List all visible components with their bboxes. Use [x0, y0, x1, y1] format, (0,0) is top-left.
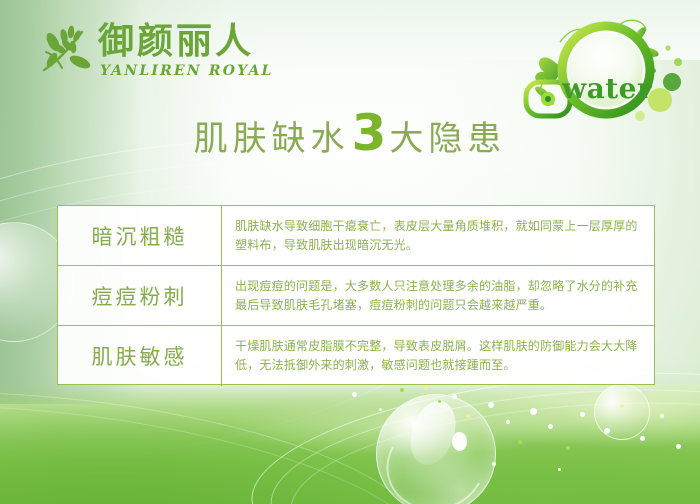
- row-description: 出现痘痘的问题是，大多数人只注意处理多余的油脂，却忽略了水分的补充最后导致肌肤毛…: [222, 266, 654, 325]
- sparkle-dot: [620, 404, 624, 408]
- row-description: 干燥肌肤通常皮脂膜不完整，导致表皮脱屑。这样肌肤的防御能力会大大降低，无法抵御外…: [222, 326, 654, 386]
- row-title: 暗沉粗糙: [58, 206, 222, 265]
- title-number: 3: [350, 104, 390, 162]
- sparkle-dot: [676, 444, 681, 449]
- sparkle-dot: [518, 440, 522, 444]
- title-prefix: 肌肤缺水: [194, 119, 350, 159]
- sparkle-dot: [438, 400, 441, 403]
- sparkle-dot: [452, 394, 457, 399]
- bubble-small-decor: [594, 384, 650, 440]
- sparkle-dot: [604, 428, 610, 434]
- sparkle-dot: [548, 424, 553, 429]
- table-row: 痘痘粉刺 出现痘痘的问题是，大多数人只注意处理多余的油脂，却忽略了水分的补充最后…: [58, 266, 654, 326]
- leaf-branch-icon: [36, 22, 98, 78]
- sparkle-dot: [379, 408, 382, 411]
- water-badge-label: water: [562, 72, 652, 105]
- row-description: 肌肤缺水导致细胞干瘪衰亡，表皮层大量角质堆积，就如同蒙上一层厚厚的塑料布，导致肌…: [222, 206, 654, 265]
- sparkle-dot: [580, 412, 585, 417]
- sparkle-dot: [506, 420, 510, 424]
- sparkle-dot: [558, 468, 561, 471]
- row-title: 痘痘粉刺: [58, 266, 222, 325]
- page-title: 肌肤缺水3大隐患: [0, 108, 700, 158]
- sparkle-dot: [640, 436, 645, 441]
- concerns-table: 暗沉粗糙 肌肤缺水导致细胞干瘪衰亡，表皮层大量角质堆积，就如同蒙上一层厚厚的塑料…: [57, 205, 655, 385]
- table-row: 肌肤敏感 干燥肌肤通常皮脂膜不完整，导致表皮脱屑。这样肌肤的防御能力会大大降低，…: [58, 326, 654, 386]
- sparkle-dot: [400, 388, 404, 392]
- title-suffix: 大隐患: [389, 119, 506, 159]
- table-row: 暗沉粗糙 肌肤缺水导致细胞干瘪衰亡，表皮层大量角质堆积，就如同蒙上一层厚厚的塑料…: [58, 206, 654, 266]
- poster-canvas: 御颜丽人 YANLIREN ROYAL: [0, 0, 700, 504]
- sparkle-dot: [566, 446, 570, 450]
- sparkle-dot: [492, 462, 496, 466]
- sparkle-dot: [466, 414, 470, 418]
- brand-name-en: YANLIREN ROYAL: [100, 63, 274, 79]
- brand-name-cn: 御颜丽人: [98, 20, 254, 62]
- row-title: 肌肤敏感: [58, 326, 222, 386]
- sparkle-dot: [660, 414, 664, 418]
- sparkle-dot: [352, 392, 357, 397]
- sparkle-dot: [470, 452, 473, 455]
- sparkle-dot: [488, 402, 494, 408]
- brand-logo[interactable]: 御颜丽人 YANLIREN ROYAL: [36, 20, 296, 84]
- sparkle-dot: [424, 386, 428, 390]
- bubble-large-highlight-dot: [452, 432, 467, 451]
- sparkle-dot: [530, 408, 537, 415]
